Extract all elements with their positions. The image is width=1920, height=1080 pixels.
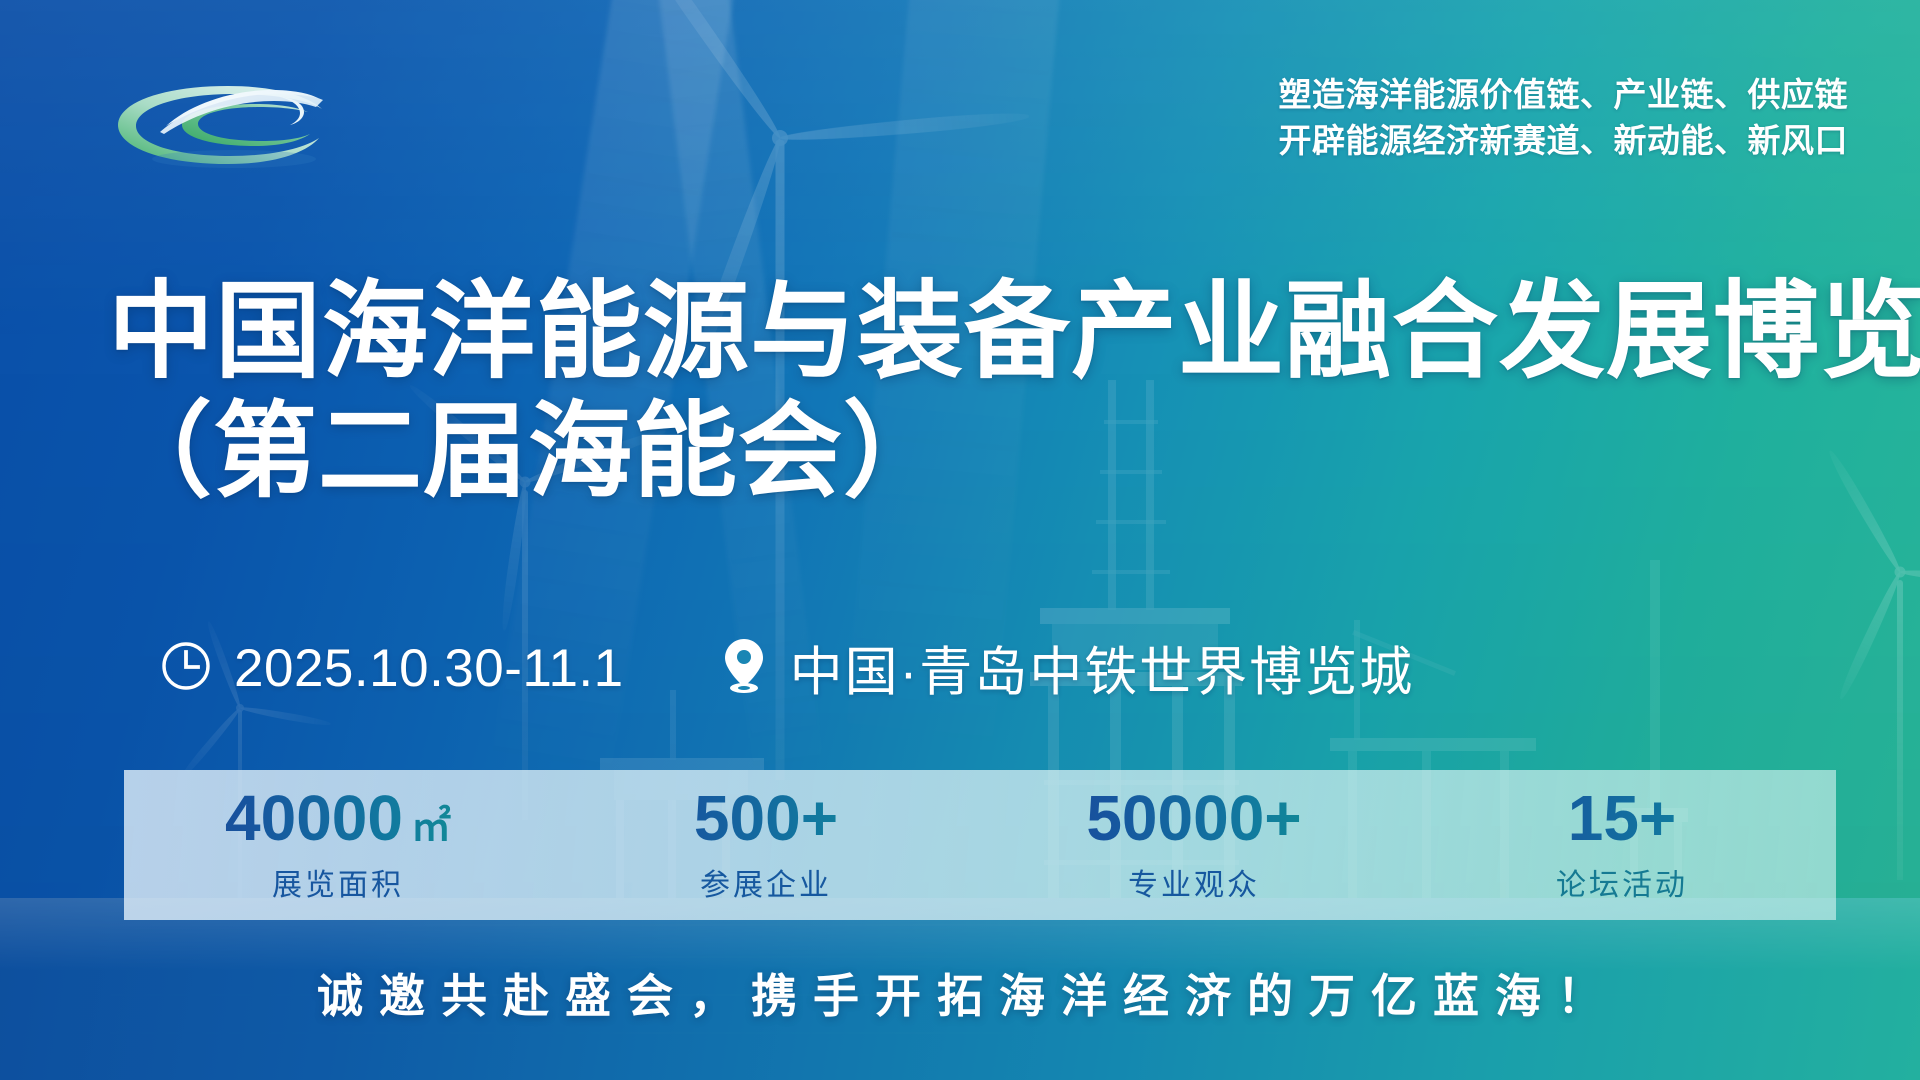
location-pin-icon — [720, 637, 768, 700]
event-date-text: 2025.10.30-11.1 — [234, 638, 624, 699]
stat-label: 专业观众 — [980, 860, 1408, 904]
stat-value: 500+ — [552, 786, 980, 850]
stat-label: 参展企业 — [552, 860, 980, 904]
event-poster: 塑造海洋能源价值链、产业链、供应链 开辟能源经济新赛道、新动能、新风口 中国海洋… — [0, 0, 1920, 1080]
stat-label: 论坛活动 — [1408, 860, 1836, 904]
stat-item: 50000+ 专业观众 — [980, 786, 1408, 904]
bottom-slogan: 诚邀共赴盛会，携手开拓海洋经济的万亿蓝海！ — [0, 960, 1920, 1026]
stat-item: 15+ 论坛活动 — [1408, 786, 1836, 904]
stat-value: 15+ — [1408, 786, 1836, 850]
stat-label: 展览面积 — [124, 860, 552, 904]
clock-icon — [160, 640, 212, 697]
event-date: 2025.10.30-11.1 — [160, 638, 624, 699]
stat-value: 40000 ㎡ — [124, 786, 552, 850]
title-line-1: 中国海洋能源与装备产业融合发展博览会 — [108, 272, 1920, 393]
stat-unit: ㎡ — [403, 805, 451, 849]
taglines: 塑造海洋能源价值链、产业链、供应链 开辟能源经济新赛道、新动能、新风口 — [1279, 72, 1849, 163]
event-location-text: 中国·青岛中铁世界博览城 — [790, 630, 1415, 706]
page-title: 中国海洋能源与装备产业融合发展博览会 （第二届海能会） — [108, 272, 1920, 511]
stat-item: 500+ 参展企业 — [552, 786, 980, 904]
event-meta: 2025.10.30-11.1 中国·青岛中铁世界博览城 — [160, 630, 1414, 706]
tagline-line-1: 塑造海洋能源价值链、产业链、供应链 — [1279, 72, 1849, 118]
stats-panel: 40000 ㎡ 展览面积 500+ 参展企业 50000+ 专业观众 15+ 论… — [124, 770, 1836, 920]
title-line-2: （第二届海能会） — [108, 393, 1920, 512]
tagline-line-2: 开辟能源经济新赛道、新动能、新风口 — [1279, 118, 1849, 164]
ocean-wave-swoosh-logo — [104, 62, 354, 174]
event-location: 中国·青岛中铁世界博览城 — [720, 630, 1415, 706]
stat-number: 40000 — [225, 782, 403, 854]
stat-item: 40000 ㎡ 展览面积 — [124, 786, 552, 904]
stat-value: 50000+ — [980, 786, 1408, 850]
